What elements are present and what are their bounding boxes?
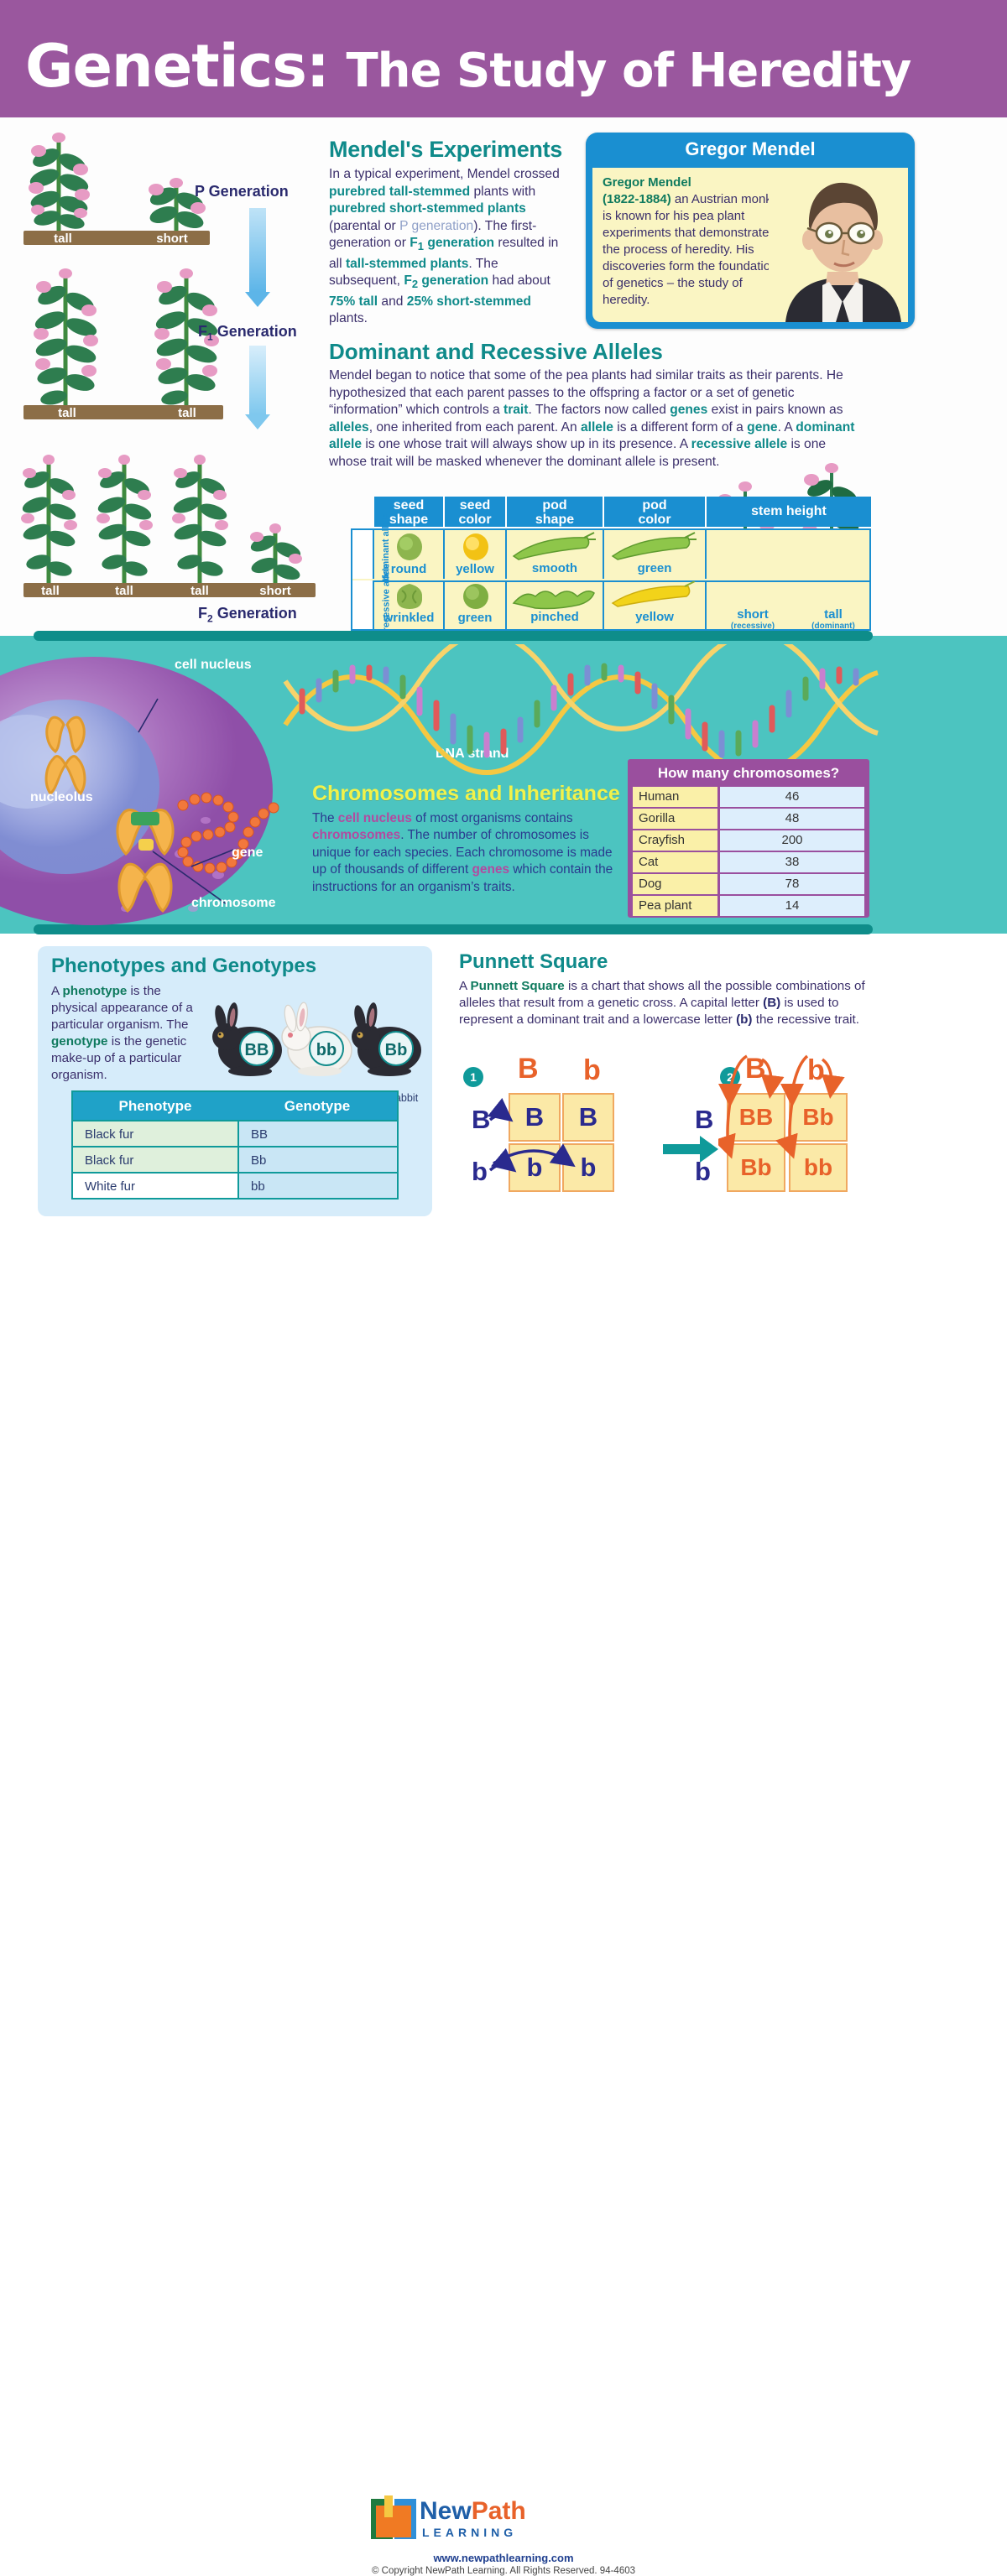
chromosome-row-name: Dog [633,874,717,894]
table-row: Human 46 [633,787,864,807]
chromosome-row-value: 14 [720,896,864,916]
phenotype-genotype-table: Phenotype Genotype Black fur BB Black fu… [71,1090,399,1200]
f2-plant-label-3: tall [175,584,225,598]
traits-header-seed-color: seed color [445,497,507,527]
table-row: Dog 78 [633,874,864,894]
genotype-cell: Bb [237,1146,397,1172]
chromosome-table-title: How many chromosomes? [630,762,867,785]
logo-path: Path [472,2497,526,2525]
traits-label-stem-short: short (recessive) [707,607,799,629]
page-title: Genetics: The Study of Heredity [25,32,910,101]
f2-generation-row: tall tall tall short [8,438,323,597]
f2-generation-plants [8,438,323,597]
poster-header: Genetics: The Study of Heredity [0,0,1007,117]
f2-plant-label-2: tall [99,584,149,598]
rabbit-genotype-3: Bb [385,1041,408,1059]
rabbit-genotype-2: bb [316,1041,337,1059]
chromosome-row-value: 38 [720,852,864,872]
punnett-square-1: B b B b B B b b [497,1053,665,1204]
traits-cell-stem-height: short (recessive) tall (dominant) [707,530,871,629]
chromosome-row-name: Crayfish [633,830,717,851]
punnett1-arrows [468,1086,636,1204]
mendel-experiments-heading: Mendel's Experiments [329,137,562,163]
traits-header-stem-height: stem height [707,497,871,527]
chromosome-row-value: 78 [720,874,864,894]
gregor-mendel-body: Gregor Mendel(1822-1884) an Austrian mon… [592,168,908,322]
f2-plant-label-4: short [250,584,300,598]
punnett2-arrows [718,1046,878,1205]
traits-cell-seed-color-dominant: yellow [445,530,507,579]
phenotypes-heading: Phenotypes and Genotypes [51,955,316,978]
table-row: Gorilla 48 [633,809,864,829]
punnett-transition-arrow [663,1132,722,1166]
rabbit-figures: BB bb Bb [210,985,426,1087]
logo-subtext: LEARNING [422,2526,517,2539]
footer-url: www.newpathlearning.com [0,2552,1007,2564]
punnett-paragraph: A Punnett Square is a chart that shows a… [459,978,879,1029]
f1-plant-label-2: tall [158,406,217,420]
punnett2-left-allele-b: b [695,1157,711,1187]
chromosome-row-value: 46 [720,787,864,807]
phenotypes-card: Phenotypes and Genotypes A phenotype is … [38,946,432,1216]
f1-to-f2-arrow [245,346,270,429]
teal-top-bar [34,631,873,641]
footer-copyright: © Copyright NewPath Learning. All Rights… [0,2566,1007,2576]
chromosome-row-name: Cat [633,852,717,872]
gregor-mendel-title: Gregor Mendel [586,138,915,160]
f2-plant-label-1: tall [25,584,76,598]
rabbit-genotype-1: BB [245,1041,269,1059]
traits-cell-seed-shape-dominant: round [374,530,445,579]
traits-header-pod-color: pod color [604,497,707,527]
chromosomes-inheritance-paragraph: The cell nucleus of most organisms conta… [312,810,616,896]
table-row: Cat 38 [633,852,864,872]
phenotype-cell: Black fur [73,1120,237,1146]
gregor-mendel-portrait [769,168,908,322]
punnett-heading: Punnett Square [459,950,608,974]
phenotype-cell: Black fur [73,1146,237,1172]
traits-label-stem-tall: tall (dominant) [796,607,871,629]
chromosomes-inheritance-heading: Chromosomes and Inheritance [312,782,620,806]
f1-generation-label: F1 Generation [198,323,297,343]
gregor-mendel-card: Gregor Mendel Gregor Mendel(1822-1884) a… [586,133,915,329]
phenotype-table-header-phenotype: Phenotype [73,1092,237,1120]
punnett1-top-allele-b: b [583,1054,601,1087]
alleles-paragraph: Mendel began to notice that some of the … [329,367,866,471]
chromosome-row-name: Human [633,787,717,807]
alleles-heading: Dominant and Recessive Alleles [329,339,663,365]
title-main: Genetics: [25,32,329,101]
gene-label: gene [232,846,263,861]
genotype-cell: bb [237,1172,397,1198]
f1-plant-label-1: tall [38,406,97,420]
nucleolus-label: nucleolus [30,790,93,805]
gregor-mendel-text: Gregor Mendel(1822-1884) an Austrian mon… [603,174,780,309]
dna-helix [277,644,881,778]
rabbit-illustrations: BB bb Bb black rabbit white rabbit black… [210,985,426,1085]
punnett1-top-allele-B: B [518,1053,539,1085]
traits-cell-pod-shape-recessive: pinched [507,580,604,629]
chromosome-row-name: Gorilla [633,809,717,829]
chromosome-row-value: 48 [720,809,864,829]
f2-generation-label: F2 Generation [198,605,297,625]
phenotype-table-header-genotype: Genotype [237,1092,397,1120]
traits-cell-pod-shape-dominant: smooth [507,530,604,579]
title-sub: The Study of Heredity [346,44,910,98]
poster-footer: NewPath LEARNING www.newpathlearning.com… [0,1241,1007,1454]
table-row: Pea plant 14 [633,896,864,916]
table-row: Crayfish 200 [633,830,864,851]
logo-new: New [420,2497,472,2525]
traits-row-label-recessive: recessive allele [352,580,374,629]
chromosome-count-table: How many chromosomes? Human 46 Gorilla 4… [628,759,869,918]
phenotypes-paragraph: A phenotype is the physical appearance o… [51,983,206,1084]
traits-cell-seed-color-recessive: green [445,580,507,629]
traits-cell-seed-shape-recessive: wrinkled [374,580,445,629]
chromosome-label: chromosome [191,896,275,911]
traits-header-pod-shape: pod shape [507,497,604,527]
traits-cell-pod-color-dominant: green [604,530,707,579]
genotype-cell: BB [237,1120,397,1146]
logo-wordmark: NewPath [420,2497,526,2526]
newpath-logo: NewPath LEARNING [369,2495,638,2547]
traits-row-label-dominant: dominant allele [352,530,374,579]
traits-cell-pod-color-recessive: yellow [604,580,707,629]
p-plant-label-short: short [143,232,201,246]
p-plant-label-tall: tall [34,232,92,246]
cell-nucleus-label: cell nucleus [175,658,252,673]
phenotype-cell: White fur [73,1172,237,1198]
chromosome-row-name: Pea plant [633,896,717,916]
chromosome-row-value: 200 [720,830,864,851]
mendel-experiments-paragraph: In a typical experiment, Mendel crossed … [329,166,571,328]
punnett2-left-allele-B: B [695,1105,713,1135]
p-to-f1-arrow [245,208,270,309]
traits-table-body: dominant allele recessive allele round y… [351,528,871,631]
book-icon [369,2495,420,2544]
punnett-step-1-badge: 1 [463,1067,483,1087]
traits-table: seed shape seed color pod shape pod colo… [351,497,871,631]
p-generation-label: P Generation [195,183,289,200]
punnett-square-2: B b B b BB Bb Bb bb [755,1053,940,1204]
